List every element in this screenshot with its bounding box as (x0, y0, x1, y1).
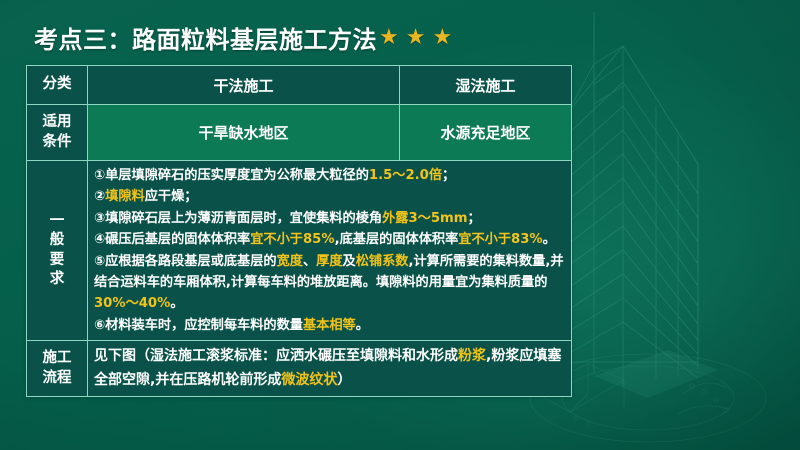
general-item-2-seg-1: 应干燥； (145, 189, 198, 204)
general-item-2-seg-0-highlight: 填隙料 (105, 189, 145, 204)
condition-wet-value: 水源充足地区 (400, 105, 572, 161)
row-label-construction-flow: 施工 流程 (27, 341, 88, 397)
general-requirements-vertical-label: 一般要求 (33, 212, 81, 289)
general-item-5-seg-1-highlight: 宽度 (277, 254, 303, 269)
header-cell-dry-method: 干法施工 (88, 66, 400, 105)
row-label-general-requirements: 一般要求 (27, 161, 88, 341)
flow-label-line2: 流程 (33, 369, 81, 388)
rating-star-1: ★ (379, 27, 399, 49)
general-item-6-seg-0: 材料装车时，应控制每车料的数量 (105, 318, 303, 333)
general-requirements-content: ①单层填隙碎石的压实厚度宜为公称最大粒径的1.5～2.0倍；②填隙料应干燥；③填… (88, 161, 572, 341)
general-item-1-seg-0: 单层填隙碎石的压实厚度宜为公称最大粒径的 (105, 168, 369, 183)
general-item-4-seg-4: 。 (543, 232, 556, 247)
general-item-4-seg-1-highlight: 宜不小于85% (250, 232, 334, 247)
page-title: 考点三：路面粒料基层施工方法 (34, 20, 377, 55)
general-item-6-seg-2: 。 (356, 318, 369, 333)
general-requirement-item-2: ②填隙料应干燥； (94, 186, 565, 207)
general-item-5-seg-4: 及 (343, 254, 356, 269)
table-row-header: 分类 干法施工 湿法施工 (27, 66, 572, 105)
condition-label-line2: 条件 (33, 133, 81, 152)
item-marker-6: ⑥ (94, 318, 105, 333)
flow-seg-3-highlight: 微波纹状 (281, 372, 337, 388)
general-label-char-0: 一 (33, 212, 81, 231)
item-marker-1: ① (94, 168, 105, 183)
page-title-row: 考点三：路面粒料基层施工方法 ★ ★ ★ (34, 20, 452, 55)
general-item-5-seg-7-highlight: 30%～40% (94, 296, 170, 311)
table-row-conditions: 适用 条件 干旱缺水地区 水源充足地区 (27, 105, 572, 161)
flow-label-line1: 施工 (33, 349, 81, 368)
row-label-applicable-conditions: 适用 条件 (27, 105, 88, 161)
header-cell-wet-method: 湿法施工 (400, 66, 572, 105)
general-item-5-seg-2: 、 (303, 254, 316, 269)
general-item-1-seg-2: ； (442, 168, 455, 183)
general-item-5-seg-0: 应根据各路段基层或底基层的 (105, 254, 276, 269)
general-label-char-2: 要 (33, 251, 81, 270)
general-item-5-seg-5-highlight: 松铺系数 (356, 254, 409, 269)
item-marker-5: ⑤ (94, 254, 105, 269)
condition-label-line1: 适用 (33, 113, 81, 132)
general-label-char-3: 求 (33, 270, 81, 289)
condition-dry-value: 干旱缺水地区 (88, 105, 400, 161)
item-marker-4: ④ (94, 232, 105, 247)
general-item-4-seg-3-highlight: 宜不小于83% (458, 232, 542, 247)
general-requirement-item-6: ⑥材料装车时，应控制每车料的数量基本相等。 (94, 315, 565, 336)
general-requirement-item-1: ①单层填隙碎石的压实厚度宜为公称最大粒径的1.5～2.0倍； (94, 165, 565, 186)
general-item-4-seg-2: ,底基层的固体体积率 (335, 232, 459, 247)
general-item-1-seg-1-highlight: 1.5～2.0倍 (369, 168, 442, 183)
flow-seg-4: ） (337, 372, 351, 388)
general-item-5-seg-8: 。 (170, 296, 183, 311)
header-cell-category: 分类 (27, 66, 88, 105)
general-item-3-seg-0: 填隙碎石层上为薄沥青面层时，宜使集料的棱角 (105, 211, 382, 226)
construction-flow-content: 见下图（湿法施工滚浆标准：应洒水碾压至填隙料和水形成粉浆,粉浆应填塞全部空隙,并… (88, 341, 572, 397)
general-item-6-seg-1-highlight: 基本相等 (303, 318, 356, 333)
item-marker-2: ② (94, 189, 105, 204)
construction-method-table: 分类 干法施工 湿法施工 适用 条件 干旱缺水地区 水源充足地区 一般要求 ①单… (26, 65, 572, 397)
table-row-construction-flow: 施工 流程 见下图（湿法施工滚浆标准：应洒水碾压至填隙料和水形成粉浆,粉浆应填塞… (27, 341, 572, 397)
flow-seg-1-highlight: 粉浆 (458, 348, 486, 364)
rating-star-3: ★ (432, 27, 452, 49)
general-item-3-seg-1-highlight: 外露3～5mm (382, 211, 467, 226)
general-item-5-seg-3-highlight: 厚度 (316, 254, 342, 269)
general-item-4-seg-0: 碾压后基层的固体体积率 (105, 232, 250, 247)
rating-star-2: ★ (406, 27, 426, 49)
table-row-general-requirements: 一般要求 ①单层填隙碎石的压实厚度宜为公称最大粒径的1.5～2.0倍；②填隙料应… (27, 161, 572, 341)
general-requirement-item-3: ③填隙碎石层上为薄沥青面层时，宜使集料的棱角外露3～5mm； (94, 208, 565, 229)
general-item-3-seg-2: ； (468, 211, 481, 226)
item-marker-3: ③ (94, 211, 105, 226)
general-requirement-item-5: ⑤应根据各路段基层或底基层的宽度、厚度及松铺系数,计算所需要的集料数量,并结合运… (94, 251, 565, 315)
flow-seg-0: 见下图（湿法施工滚浆标准：应洒水碾压至填隙料和水形成 (94, 348, 458, 364)
general-requirement-item-4: ④碾压后基层的固体体积率宜不小于85%,底基层的固体体积率宜不小于83%。 (94, 229, 565, 250)
general-label-char-1: 般 (33, 231, 81, 250)
